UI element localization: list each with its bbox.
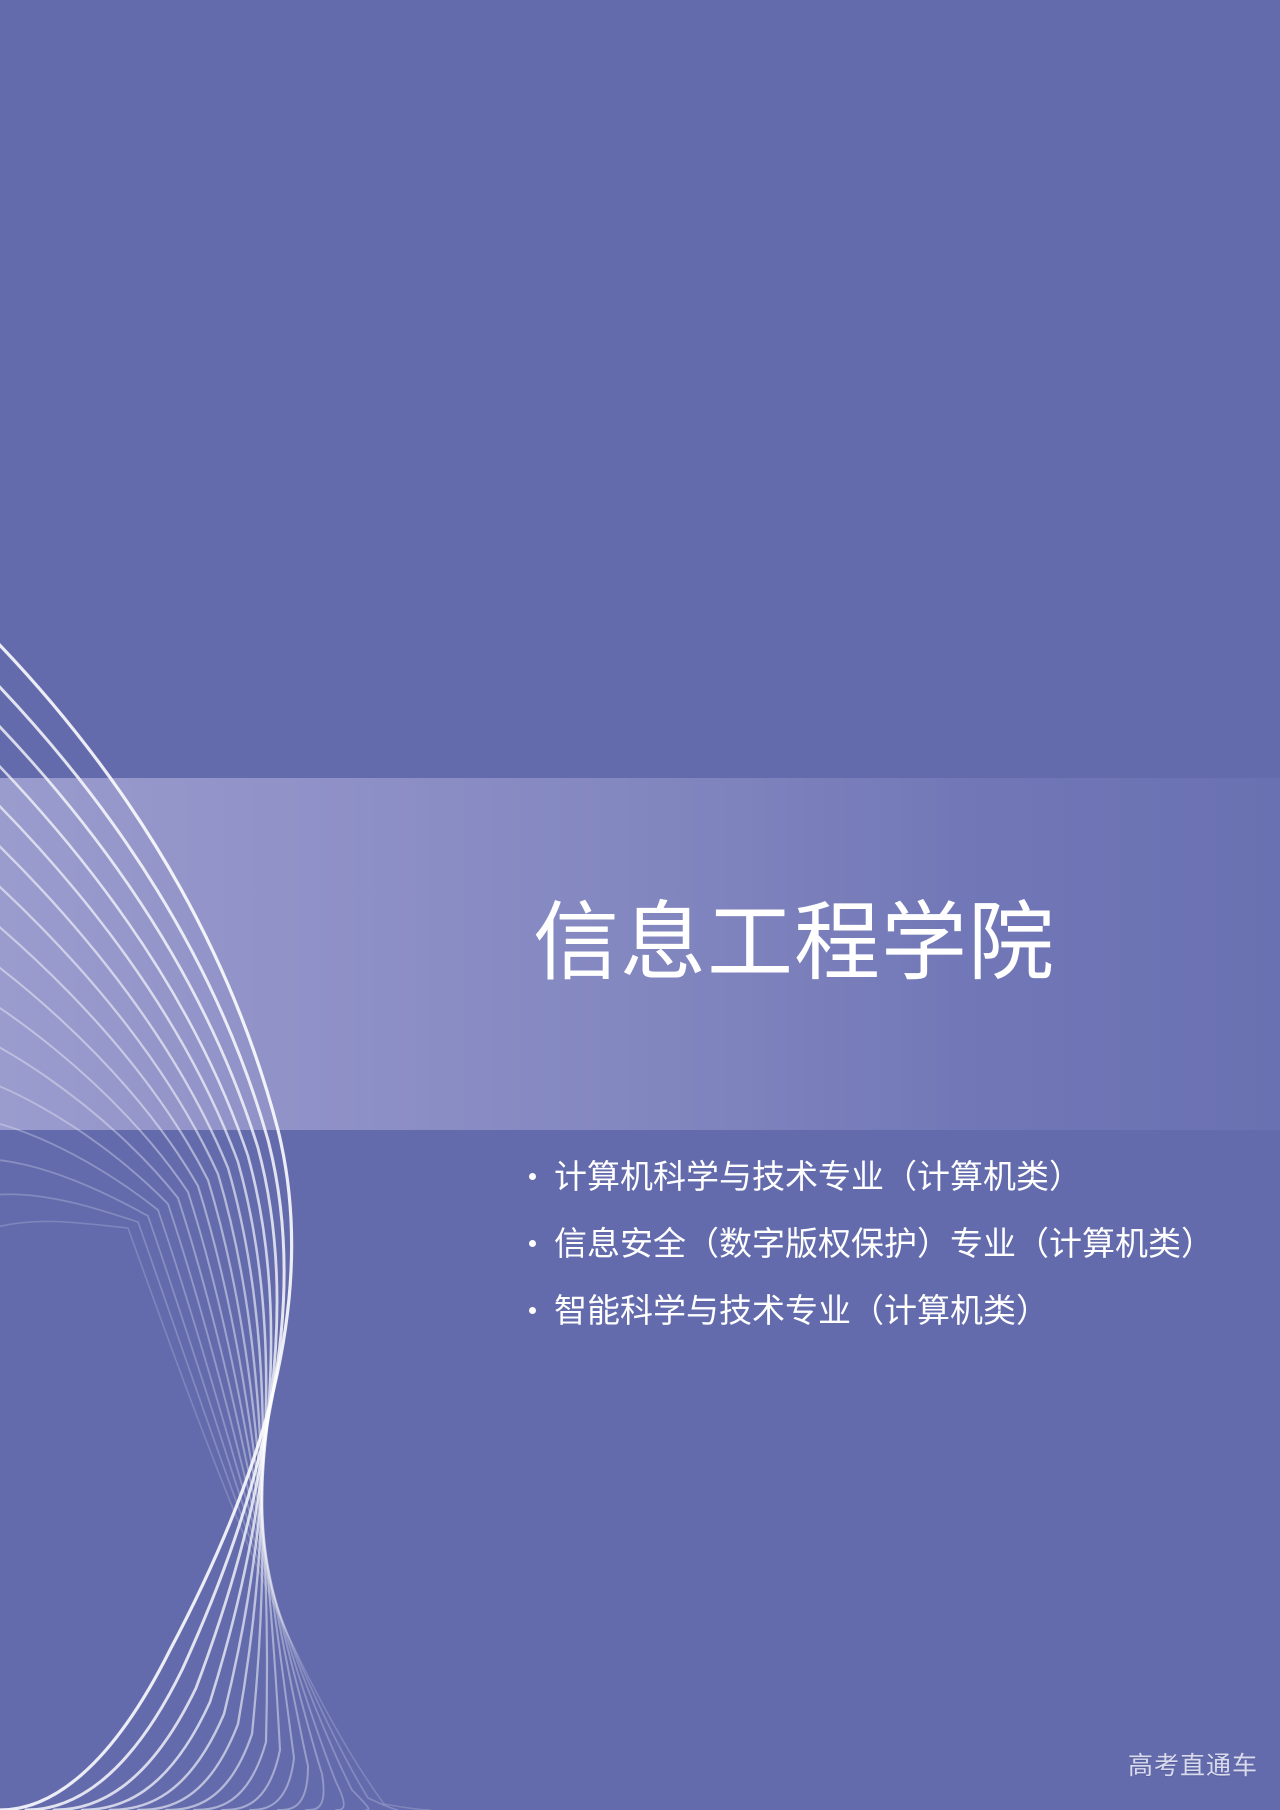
page-title: 信息工程学院 <box>533 895 1055 991</box>
slide-page: 信息工程学院 计算机科学与技术专业（计算机类） 信息安全（数字版权保护）专业（计… <box>0 0 1280 1810</box>
list-item: 计算机科学与技术专业（计算机类） <box>528 1143 1228 1210</box>
list-item: 信息安全（数字版权保护）专业（计算机类） <box>528 1210 1228 1277</box>
list-item: 智能科学与技术专业（计算机类） <box>528 1277 1228 1344</box>
major-list: 计算机科学与技术专业（计算机类） 信息安全（数字版权保护）专业（计算机类） 智能… <box>528 1143 1228 1344</box>
bullet-dot-icon <box>529 1307 536 1314</box>
watermark-label: 高考直通车 <box>1128 1746 1258 1782</box>
bullet-dot-icon <box>529 1173 536 1180</box>
bullet-dot-icon <box>529 1240 536 1247</box>
slide-content: 信息工程学院 计算机科学与技术专业（计算机类） 信息安全（数字版权保护）专业（计… <box>0 0 1280 1810</box>
list-item-label: 计算机科学与技术专业（计算机类） <box>554 1158 1082 1195</box>
list-item-label: 智能科学与技术专业（计算机类） <box>554 1292 1049 1329</box>
list-item-label: 信息安全（数字版权保护）专业（计算机类） <box>554 1225 1214 1262</box>
